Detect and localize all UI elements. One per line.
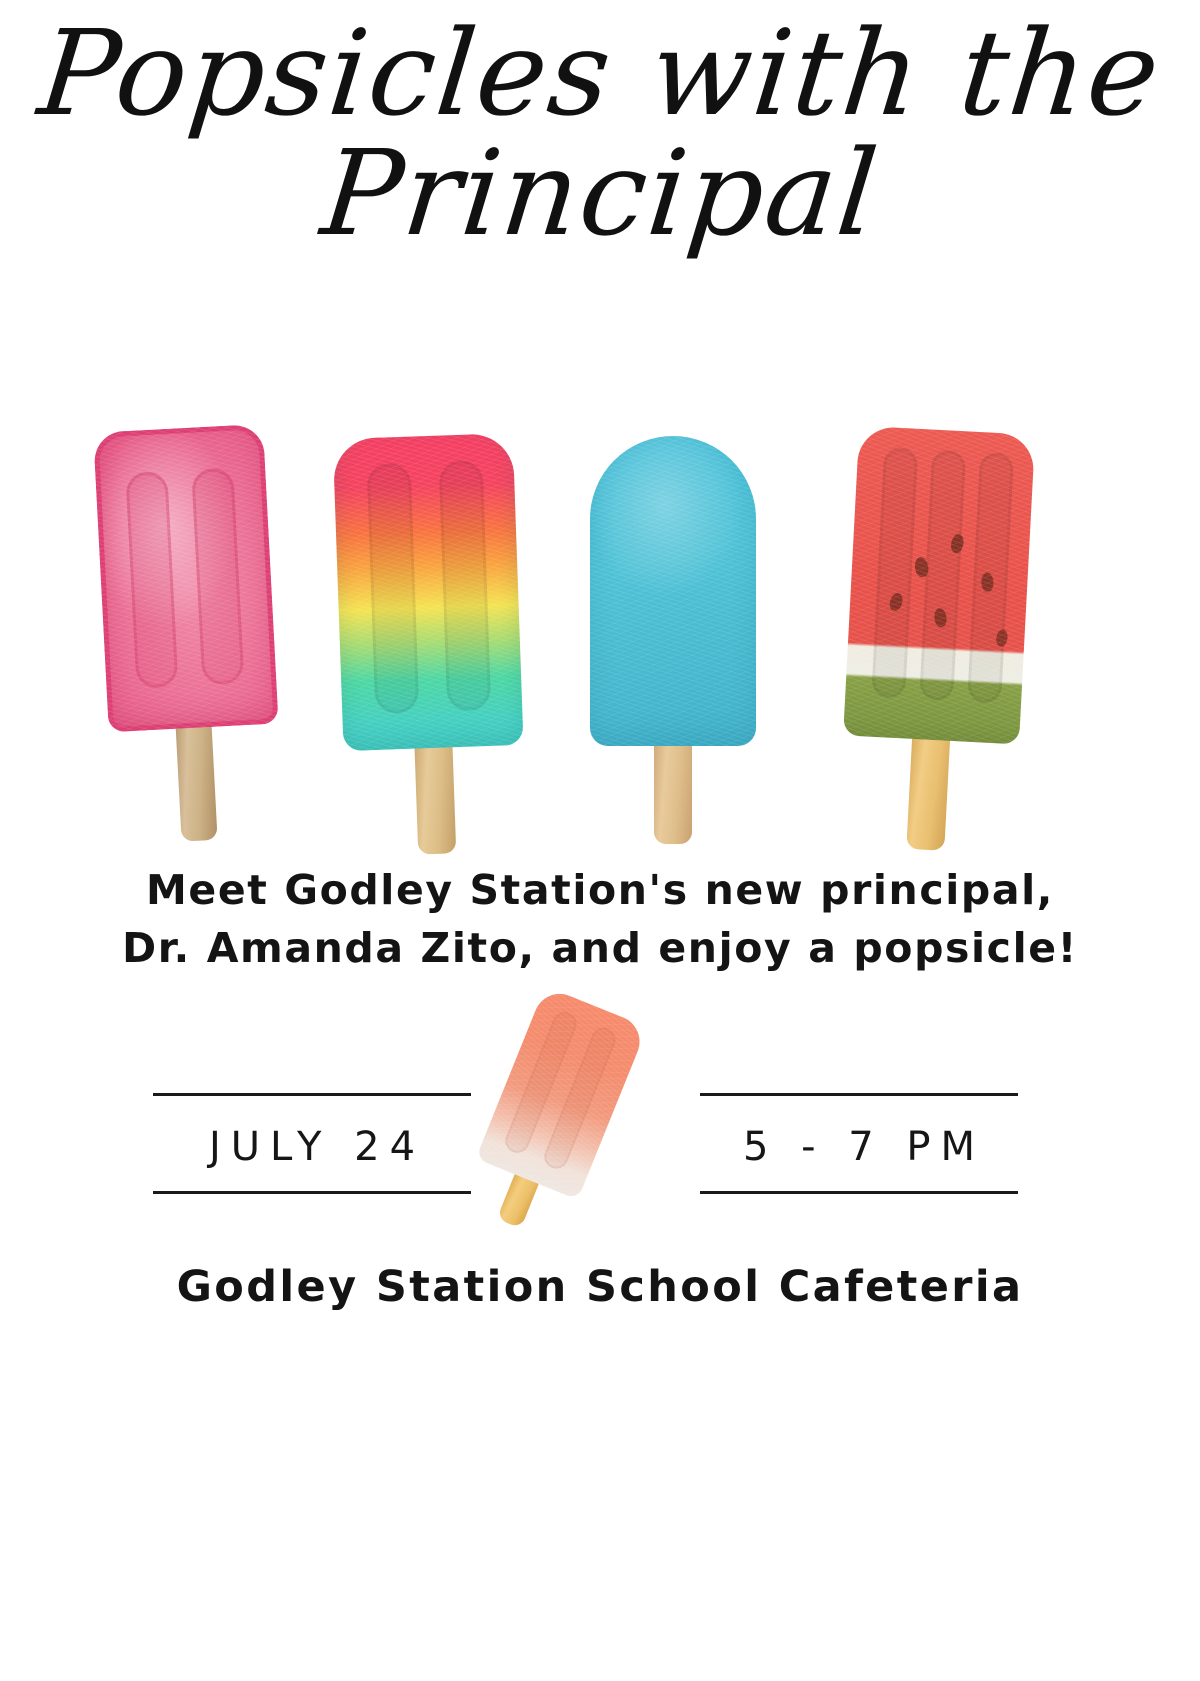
rainbow-texture bbox=[333, 433, 524, 751]
pink-groove-2 bbox=[191, 467, 244, 685]
date-block: JULY 24 bbox=[153, 1040, 471, 1210]
rainbow-popsicle bbox=[333, 433, 528, 859]
date-rule-top bbox=[153, 1093, 471, 1096]
pink-popsicle bbox=[93, 424, 285, 852]
blue-popsicle-body bbox=[590, 436, 756, 746]
time-block: 5 - 7 PM bbox=[700, 1040, 1018, 1210]
watermelon-groove-1 bbox=[871, 447, 918, 698]
watermelon-popsicle-stick bbox=[906, 729, 950, 851]
rainbow-popsicle-stick bbox=[414, 735, 456, 854]
venue-text: Godley Station School Cafeteria bbox=[0, 1262, 1200, 1312]
rainbow-groove-2 bbox=[439, 460, 492, 711]
watermelon-seed bbox=[981, 572, 994, 592]
blue-popsicle-stick bbox=[654, 736, 692, 844]
watermelon-popsicle-body bbox=[843, 426, 1035, 745]
pink-texture bbox=[93, 424, 278, 732]
pink-popsicle-body bbox=[93, 424, 278, 732]
poster-canvas: Popsicles with the Principal bbox=[0, 0, 1200, 1681]
time-rule-top bbox=[700, 1093, 1018, 1096]
pink-popsicle-stick bbox=[175, 715, 217, 842]
rainbow-groove-1 bbox=[367, 463, 420, 714]
time-rule-bottom bbox=[700, 1191, 1018, 1194]
body-text-line-2: Dr. Amanda Zito, and enjoy a popsicle! bbox=[0, 919, 1200, 977]
watermelon-popsicle bbox=[837, 426, 1035, 865]
title-line-1-text: Popsicles with the bbox=[34, 14, 1167, 132]
time-label: 5 - 7 PM bbox=[700, 1124, 1018, 1170]
title-line-1: Popsicles with the bbox=[0, 14, 1200, 132]
title-line-2: Principal bbox=[0, 134, 1200, 252]
rainbow-popsicle-body bbox=[333, 433, 524, 751]
blue-texture bbox=[590, 436, 756, 746]
body-text-line-1: Meet Godley Station's new principal, bbox=[0, 861, 1200, 919]
title-line-2-text: Principal bbox=[316, 134, 883, 252]
poster-title: Popsicles with the Principal bbox=[0, 14, 1200, 252]
watermelon-seed bbox=[995, 629, 1009, 648]
pink-groove-1 bbox=[125, 471, 178, 689]
date-label: JULY 24 bbox=[153, 1124, 471, 1170]
date-rule-bottom bbox=[153, 1191, 471, 1194]
popsicle-illustration-row bbox=[0, 418, 1200, 848]
blue-popsicle bbox=[590, 436, 756, 856]
